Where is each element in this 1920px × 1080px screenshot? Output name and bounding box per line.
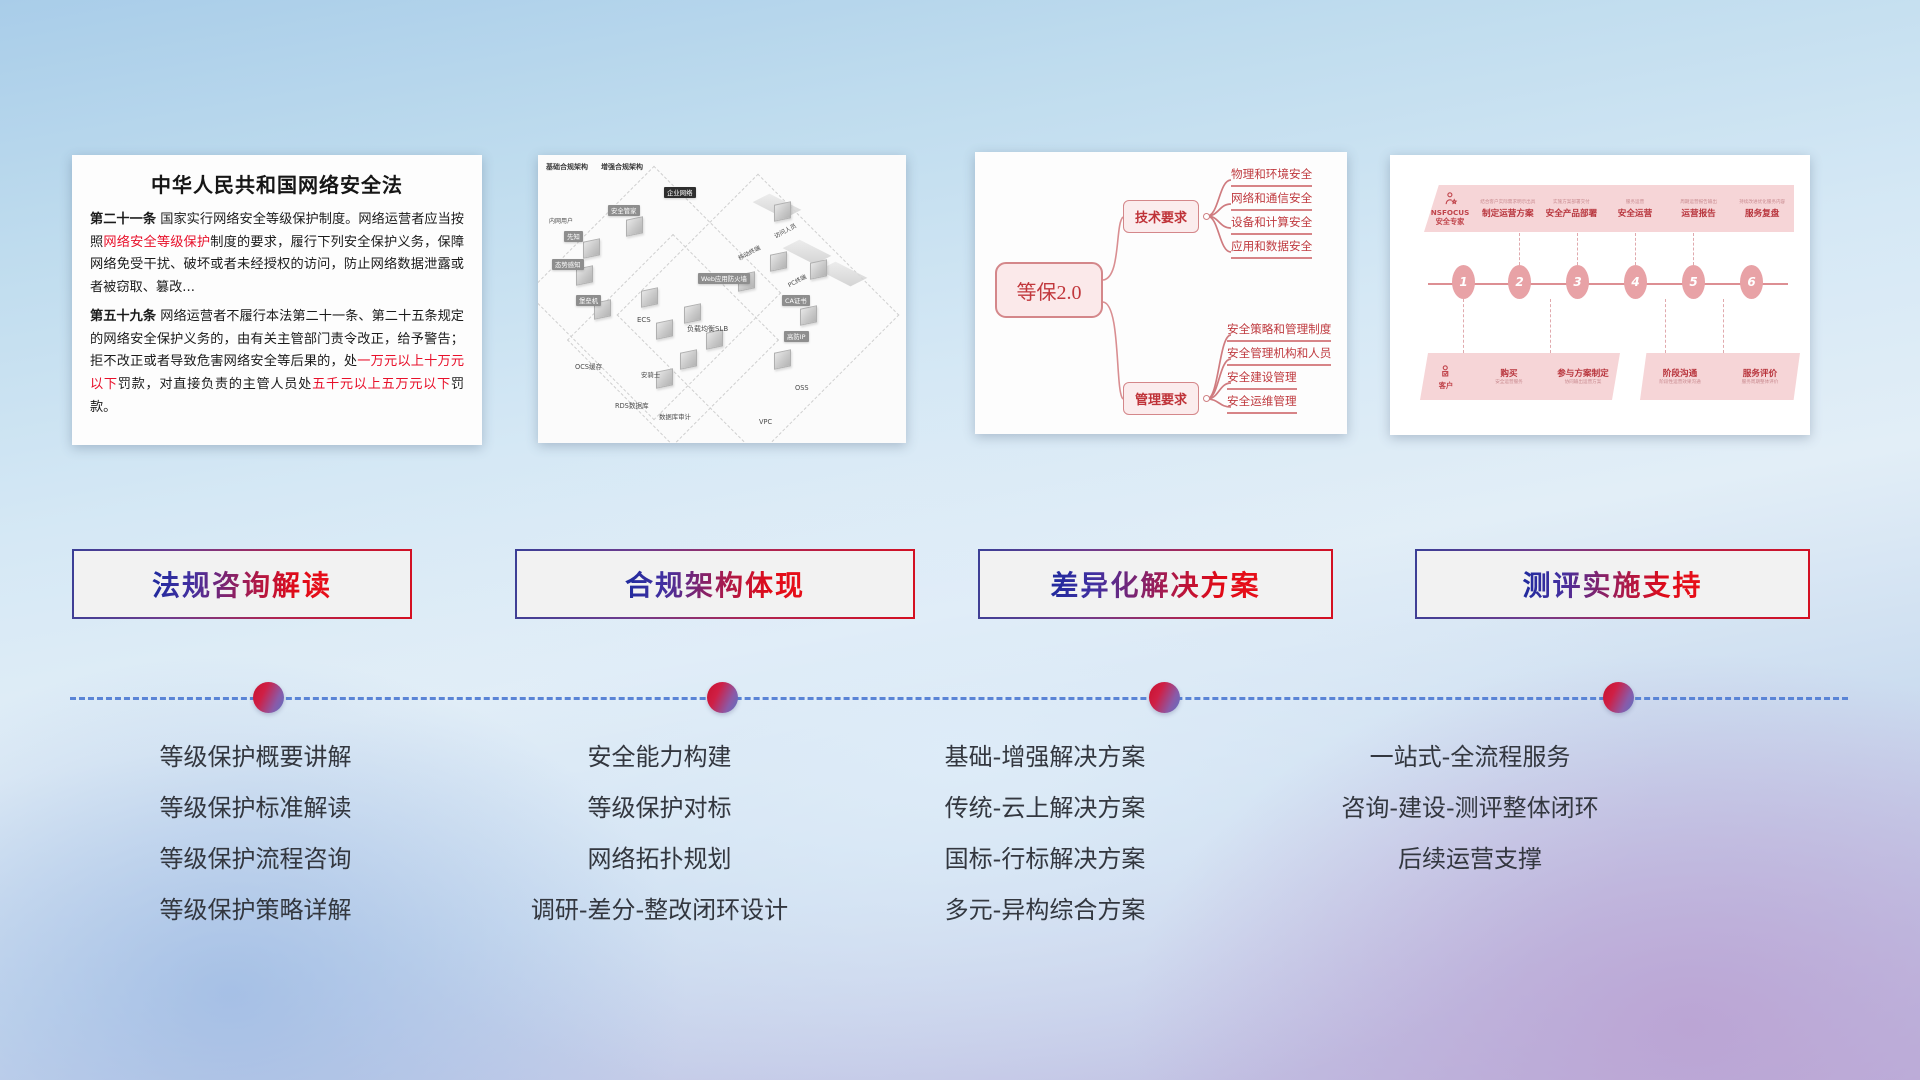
mindmap-collapse-dot-icon[interactable] bbox=[1203, 395, 1210, 402]
law-paragraph-59: 第五十九条 网络运营者不履行本法第二十一条、第二十五条规定的网络安全保护义务的，… bbox=[90, 306, 464, 420]
timeline-step-number: 1 bbox=[1452, 265, 1475, 299]
list-item: 调研-差分-整改闭环设计 bbox=[462, 898, 857, 922]
arch-node bbox=[583, 240, 600, 257]
customer-person-icon bbox=[1439, 364, 1454, 379]
server-cube-icon bbox=[656, 319, 673, 340]
expert-step-main: 制定运营方案 bbox=[1482, 207, 1534, 219]
arch-tab-basic[interactable]: 基础合规架构 bbox=[546, 162, 588, 172]
arch-label-plain: 内网用户 bbox=[546, 215, 576, 226]
server-cube-icon bbox=[800, 305, 817, 326]
customer-role-line1: 客户 bbox=[1439, 381, 1453, 390]
list-item: 传统-云上解决方案 bbox=[860, 796, 1230, 820]
differentiated-solution-list: 基础-增强解决方案 传统-云上解决方案 国标-行标解决方案 多元-异构综合方案 bbox=[860, 745, 1230, 949]
header-label: 差异化解决方案 bbox=[1050, 564, 1260, 604]
arch-node bbox=[810, 261, 827, 278]
expert-step-sub: 持续改进优化服务内容 bbox=[1739, 199, 1785, 205]
expert-person-icon bbox=[1443, 191, 1458, 206]
expert-step: 周期运营报告输出 运营报告 bbox=[1667, 199, 1731, 219]
customer-step-main: 服务评价 bbox=[1743, 367, 1777, 379]
timeline-tick bbox=[1665, 299, 1666, 353]
mindmap-leaf: 安全策略和管理制度 bbox=[1227, 321, 1331, 342]
mindmap-leaf: 安全管理机构和人员 bbox=[1227, 345, 1331, 366]
expert-step-main: 运营报告 bbox=[1681, 207, 1715, 219]
header-inner: 法规咨询解读 bbox=[74, 551, 409, 616]
header-box-compliance-architecture[interactable]: 合规架构体现 bbox=[515, 549, 915, 619]
expert-step-sub: 服务运营 bbox=[1626, 199, 1644, 205]
list-item: 后续运营支撑 bbox=[1235, 847, 1705, 871]
slide-canvas: 中华人民共和国网络安全法 第二十一条 国家实行网络安全等级保护制度。网络运营者应… bbox=[0, 0, 1920, 1080]
server-cube-icon bbox=[641, 287, 658, 308]
list-item: 等级保护流程咨询 bbox=[58, 847, 453, 871]
arch-label-plain: OSS bbox=[792, 383, 812, 393]
regulation-consulting-list: 等级保护概要讲解 等级保护标准解读 等级保护流程咨询 等级保护策略详解 bbox=[58, 745, 453, 949]
arch-label: Web应用防火墙 bbox=[698, 273, 750, 284]
customer-step-sub: 协同输出运营方案 bbox=[1565, 379, 1602, 385]
expert-step-sub: 结合客户实际需求明示出具 bbox=[1480, 199, 1535, 205]
server-cube-icon bbox=[684, 303, 701, 324]
server-cube-icon bbox=[680, 349, 697, 370]
mindmap-branch-management: 管理要求 bbox=[1123, 382, 1199, 415]
header-box-differentiated-solution[interactable]: 差异化解决方案 bbox=[978, 549, 1333, 619]
timeline-step-number: 5 bbox=[1682, 265, 1705, 299]
mindmap-leaf: 安全运维管理 bbox=[1227, 393, 1297, 414]
expert-step: 持续改进优化服务内容 服务复盘 bbox=[1730, 199, 1794, 219]
server-cube-icon bbox=[774, 201, 791, 222]
server-cube-icon bbox=[626, 216, 643, 237]
timeline-tick bbox=[1577, 233, 1578, 265]
mindmap-leaf: 网络和通信安全 bbox=[1231, 190, 1312, 211]
expert-step-sub: 实施方案部署交付 bbox=[1553, 199, 1590, 205]
expert-role-line1: NSFOCUS bbox=[1431, 208, 1470, 217]
header-inner: 合规架构体现 bbox=[517, 551, 912, 616]
arch-label-plain: 负载均衡SLB bbox=[684, 323, 731, 335]
timeline-step-number: 3 bbox=[1566, 265, 1589, 299]
header-label: 合规架构体现 bbox=[625, 564, 805, 604]
mindmap-branch-technical: 技术要求 bbox=[1123, 200, 1199, 233]
list-item: 等级保护策略详解 bbox=[58, 898, 453, 922]
timeline-tick bbox=[1693, 233, 1694, 265]
server-cube-icon bbox=[583, 238, 600, 259]
mindmap-collapse-dot-icon[interactable] bbox=[1203, 213, 1210, 220]
expert-band: NSFOCUS 安全专家 结合客户实际需求明示出具 制定运营方案 实施方案部署交… bbox=[1424, 185, 1794, 232]
arch-node bbox=[684, 305, 701, 322]
arch-label-plain: VPC bbox=[756, 417, 775, 427]
expert-role-line2: 安全专家 bbox=[1436, 217, 1465, 226]
server-cube-icon bbox=[810, 259, 827, 280]
header-label: 法规咨询解读 bbox=[152, 564, 332, 604]
expert-step-main: 安全运营 bbox=[1618, 207, 1652, 219]
law-article-label-59: 第五十九条 bbox=[90, 309, 156, 324]
list-item: 一站式-全流程服务 bbox=[1235, 745, 1705, 769]
arch-node bbox=[800, 307, 817, 324]
list-item: 咨询-建设-测评整体闭环 bbox=[1235, 796, 1705, 820]
law-seg-highlight: 五千元以上五万元以下 bbox=[312, 377, 451, 392]
arch-label: 先知 bbox=[564, 231, 583, 242]
timeline-dot-4[interactable] bbox=[1603, 682, 1634, 713]
timeline-dot-2[interactable] bbox=[707, 682, 738, 713]
customer-step-sub: 阶段性运营效果沟通 bbox=[1659, 379, 1700, 385]
cybersecurity-law-card: 中华人民共和国网络安全法 第二十一条 国家实行网络安全等级保护制度。网络运营者应… bbox=[72, 155, 482, 445]
expert-step: 结合客户实际需求明示出具 制定运营方案 bbox=[1476, 199, 1540, 219]
mindmap-leaf: 设备和计算安全 bbox=[1231, 214, 1312, 235]
arch-label: 高防IP bbox=[784, 331, 809, 342]
timeline-dot-1[interactable] bbox=[253, 682, 284, 713]
customer-step-sub: 安全运营服务 bbox=[1495, 379, 1523, 385]
evaluation-support-list: 一站式-全流程服务 咨询-建设-测评整体闭环 后续运营支撑 bbox=[1235, 745, 1705, 898]
timeline-tick bbox=[1519, 233, 1520, 265]
timeline-tick bbox=[1723, 299, 1724, 353]
customer-step: 阶段沟通 阶段性运营效果沟通 bbox=[1640, 367, 1720, 387]
timeline-tick bbox=[1463, 299, 1464, 353]
arch-node bbox=[626, 218, 643, 235]
arch-label-plain: ECS bbox=[634, 315, 654, 325]
customer-band-2: 阶段沟通 阶段性运营效果沟通 服务评价 服务周期整体评价 bbox=[1640, 353, 1800, 400]
compliance-architecture-list: 安全能力构建 等级保护对标 网络拓扑规划 调研-差分-整改闭环设计 bbox=[462, 745, 857, 949]
mindmap-root: 等保2.0 bbox=[995, 262, 1103, 318]
law-title: 中华人民共和国网络安全法 bbox=[90, 169, 464, 198]
timeline-tick bbox=[1550, 299, 1551, 353]
arch-label-dark: 企业网络 bbox=[664, 187, 696, 198]
timeline-tick bbox=[1635, 233, 1636, 265]
arch-node bbox=[774, 351, 791, 368]
nsfocus-service-timeline-card: NSFOCUS 安全专家 结合客户实际需求明示出具 制定运营方案 实施方案部署交… bbox=[1390, 155, 1810, 435]
header-box-evaluation-support[interactable]: 测评实施支持 bbox=[1415, 549, 1810, 619]
arch-label-plain: RDS数据库 bbox=[612, 399, 652, 411]
arch-node bbox=[770, 253, 787, 270]
timeline-dashed-line bbox=[70, 697, 1848, 700]
arch-label: CA证书 bbox=[782, 295, 810, 306]
arch-label-plain: OCS缓存 bbox=[572, 360, 605, 372]
law-article-label-21: 第二十一条 bbox=[90, 212, 156, 227]
law-body: 中华人民共和国网络安全法 第二十一条 国家实行网络安全等级保护制度。网络运营者应… bbox=[72, 155, 482, 435]
server-cube-icon bbox=[774, 349, 791, 370]
list-item: 多元-异构综合方案 bbox=[860, 898, 1230, 922]
list-item: 等级保护标准解读 bbox=[58, 796, 453, 820]
cloud-architecture-card: 基础合规架构 增强合规架构 bbox=[538, 155, 906, 443]
expert-step: 实施方案部署交付 安全产品部署 bbox=[1540, 199, 1604, 219]
customer-step: 服务评价 服务周期整体评价 bbox=[1720, 367, 1800, 387]
mindmap: 等保2.0 技术要求 物理和环境安全 网络和通信安全 设备和计算安全 应用和数据… bbox=[975, 152, 1347, 434]
customer-step-main: 购买 bbox=[1500, 367, 1517, 379]
arch-node bbox=[641, 289, 658, 306]
arch-label: 安全管家 bbox=[608, 205, 640, 216]
server-cube-icon bbox=[770, 251, 787, 272]
architecture-diagram: 基础合规架构 增强合规架构 bbox=[538, 155, 906, 443]
customer-step: 购买 安全运营服务 bbox=[1472, 367, 1546, 387]
mindmap-leaf: 应用和数据安全 bbox=[1231, 238, 1312, 259]
header-label: 测评实施支持 bbox=[1522, 564, 1702, 604]
arch-node bbox=[774, 203, 791, 220]
list-item: 基础-增强解决方案 bbox=[860, 745, 1230, 769]
arch-label: 堡垒机 bbox=[576, 295, 601, 306]
expert-step-main: 服务复盘 bbox=[1745, 207, 1779, 219]
list-item: 等级保护概要讲解 bbox=[58, 745, 453, 769]
law-seg: 罚款，对直接负责的主管人员处 bbox=[118, 377, 312, 392]
header-inner: 测评实施支持 bbox=[1417, 551, 1807, 616]
dengbao-mindmap-card: 等保2.0 技术要求 物理和环境安全 网络和通信安全 设备和计算安全 应用和数据… bbox=[975, 152, 1347, 434]
timeline-step-number: 4 bbox=[1624, 265, 1647, 299]
list-item: 等级保护对标 bbox=[462, 796, 857, 820]
list-item: 网络拓扑规划 bbox=[462, 847, 857, 871]
arch-label: 态势感知 bbox=[552, 259, 584, 270]
expert-step-sub: 周期运营报告输出 bbox=[1680, 199, 1717, 205]
mindmap-leaf: 安全建设管理 bbox=[1227, 369, 1297, 390]
timeline-step-number: 2 bbox=[1508, 265, 1531, 299]
timeline-dot-3[interactable] bbox=[1149, 682, 1180, 713]
customer-role: 客户 bbox=[1420, 364, 1472, 390]
expert-step-main: 安全产品部署 bbox=[1546, 207, 1598, 219]
header-inner: 差异化解决方案 bbox=[980, 551, 1330, 616]
expert-step: 服务运营 安全运营 bbox=[1603, 199, 1667, 219]
law-paragraph-21: 第二十一条 国家实行网络安全等级保护制度。网络运营者应当按照网络安全等级保护制度… bbox=[90, 209, 464, 300]
arch-node bbox=[656, 321, 673, 338]
arch-label-plain: 安骑士 bbox=[638, 369, 663, 380]
list-item: 国标-行标解决方案 bbox=[860, 847, 1230, 871]
timeline-step-number: 6 bbox=[1740, 265, 1763, 299]
customer-step-main: 参与方案制定 bbox=[1557, 367, 1609, 379]
law-seg-highlight: 网络安全等级保护 bbox=[103, 235, 210, 250]
header-box-regulation-consulting[interactable]: 法规咨询解读 bbox=[72, 549, 412, 619]
nsfocus-expert-role: NSFOCUS 安全专家 bbox=[1424, 191, 1476, 226]
arch-tab-enhanced[interactable]: 增强合规架构 bbox=[601, 162, 643, 172]
arch-label-plain: 数据库审计 bbox=[656, 411, 694, 422]
customer-step-main: 阶段沟通 bbox=[1663, 367, 1697, 379]
service-timeline: NSFOCUS 安全专家 结合客户实际需求明示出具 制定运营方案 实施方案部署交… bbox=[1390, 155, 1810, 435]
timeline-axis bbox=[1428, 283, 1788, 285]
mindmap-leaf: 物理和环境安全 bbox=[1231, 166, 1312, 187]
customer-step-sub: 服务周期整体评价 bbox=[1742, 379, 1779, 385]
customer-band: 客户 购买 安全运营服务 参与方案制定 协同输出运营方案 bbox=[1420, 353, 1620, 400]
list-item: 安全能力构建 bbox=[462, 745, 857, 769]
customer-step: 参与方案制定 协同输出运营方案 bbox=[1546, 367, 1620, 387]
arch-node bbox=[680, 351, 697, 368]
